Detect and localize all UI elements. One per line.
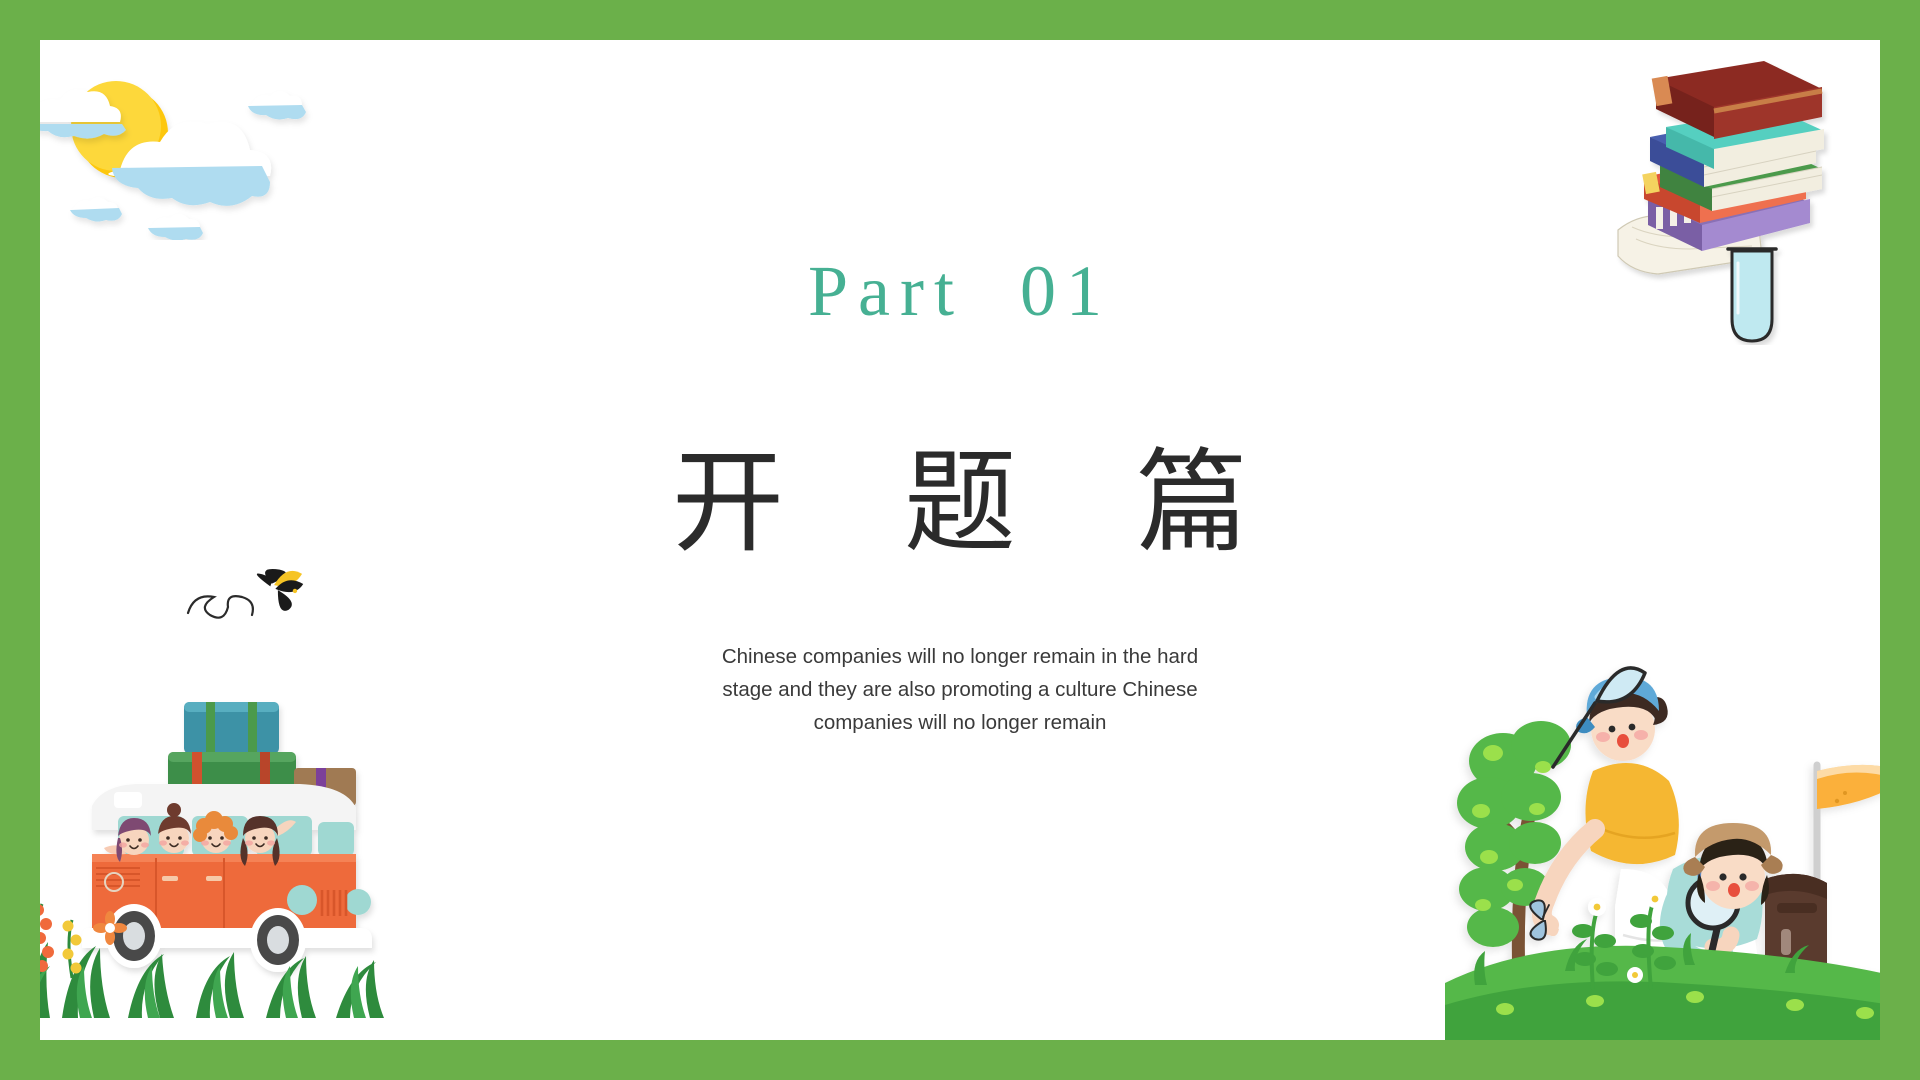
flower-icon (1646, 890, 1664, 908)
subtitle-line-2: stage and they are also promoting a cult… (722, 678, 1197, 701)
flower-icon (1588, 898, 1606, 916)
sky-decoration-group (40, 40, 360, 240)
part-label: Part 01 (40, 255, 1880, 327)
cloud-icon (246, 91, 306, 119)
flower-icon (1627, 967, 1643, 983)
slide-root: Part 01 开 题 篇 Chinese companies will no … (0, 0, 1920, 1080)
flower-icon (40, 904, 54, 974)
cloud-icon (148, 214, 203, 240)
tree-illustration (1457, 721, 1571, 985)
subtitle-paragraph: Chinese companies will no longer remain … (670, 640, 1250, 740)
page-title: 开 题 篇 (40, 440, 1880, 569)
school-bus-illustration (40, 610, 430, 1020)
slide-canvas: Part 01 开 题 篇 Chinese companies will no … (40, 40, 1880, 1040)
subtitle-line-3: companies will no longer remain (814, 711, 1107, 734)
subtitle-line-1: Chinese companies will no longer remain … (722, 645, 1198, 668)
children-exploring-illustration (1445, 585, 1880, 1040)
cloud-icon (70, 197, 122, 221)
flower-icon (63, 920, 82, 978)
